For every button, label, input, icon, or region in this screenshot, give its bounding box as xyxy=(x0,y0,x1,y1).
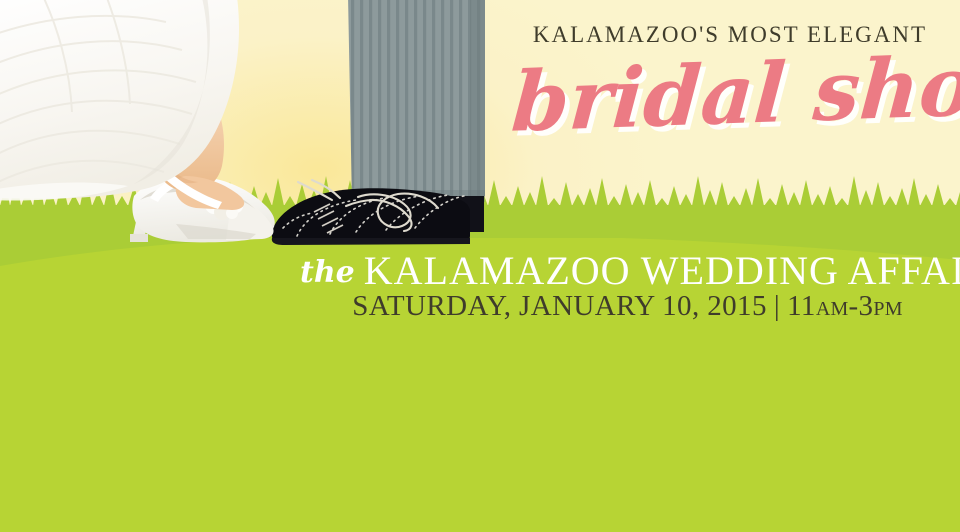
script-headline: bridal show! xyxy=(509,46,954,144)
event-date-line: SATURDAY, JANUARY 10, 2015|11AM-3PM xyxy=(300,290,955,323)
date-time-separator: | xyxy=(774,290,780,323)
event-name-line: theKALAMAZOO WEDDING AFFAIR xyxy=(300,247,955,294)
time-end: 3 xyxy=(859,290,874,322)
grass-blades xyxy=(0,168,960,238)
event-the-word: the xyxy=(300,255,355,290)
time-start: 11 xyxy=(787,290,816,322)
event-name: KALAMAZOO WEDDING AFFAIR xyxy=(364,248,960,293)
bridal-show-poster: KALAMAZOO'S MOST ELEGANT bridal show! th… xyxy=(0,0,960,532)
time-dash: - xyxy=(848,290,858,322)
event-date: SATURDAY, JANUARY 10, 2015 xyxy=(352,290,767,322)
time-end-period: PM xyxy=(873,298,902,320)
time-start-period: AM xyxy=(816,298,849,320)
